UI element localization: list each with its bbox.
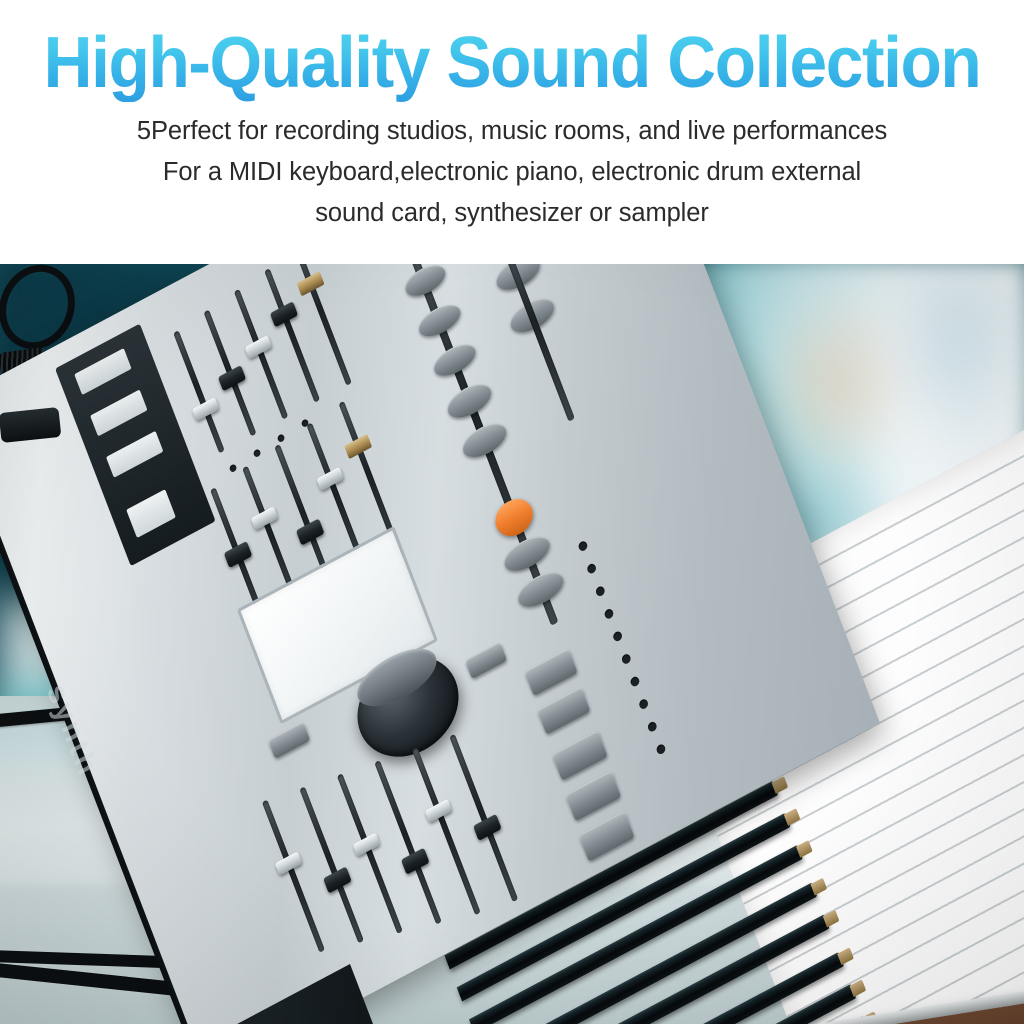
orange-fader-cap[interactable] (490, 492, 538, 543)
led-indicator (229, 463, 238, 473)
led-indicator (577, 540, 588, 553)
subtitle-line-3: sound card, synthesizer or sampler (0, 199, 1024, 228)
led-indicator (603, 607, 614, 620)
synthesizer: synth (140, 314, 1024, 1024)
led-indicator (277, 433, 286, 443)
grey-button[interactable] (579, 811, 635, 862)
fader-slot[interactable] (412, 747, 481, 915)
grey-button[interactable] (537, 687, 591, 735)
product-photo: synth (0, 264, 1024, 1024)
grey-button[interactable] (268, 721, 311, 759)
led-indicator (621, 653, 632, 666)
page-title: High-Quality Sound Collection (31, 24, 994, 102)
led-indicator (629, 675, 640, 688)
grey-knob[interactable] (514, 566, 568, 614)
led-indicator (612, 630, 623, 643)
led-indicator (647, 720, 658, 733)
grey-knob[interactable] (459, 417, 511, 464)
grey-knob[interactable] (443, 377, 495, 424)
grey-button[interactable] (565, 771, 621, 822)
subtitle-line-1: 5Perfect for recording studios, music ro… (0, 117, 1024, 146)
led-indicator (595, 585, 606, 598)
led-indicator (586, 562, 597, 575)
grey-knob[interactable] (500, 530, 554, 578)
led-indicator (253, 448, 262, 458)
product-banner: High-Quality Sound Collection 5Perfect f… (0, 0, 1024, 1024)
led-indicator (655, 743, 666, 756)
header-text-block: High-Quality Sound Collection 5Perfect f… (0, 0, 1024, 264)
grey-button[interactable] (524, 648, 578, 696)
fader-slot[interactable] (449, 734, 518, 902)
led-indicator (638, 698, 649, 711)
grey-button[interactable] (465, 642, 508, 680)
subtitle-line-2: For a MIDI keyboard,electronic piano, el… (0, 158, 1024, 187)
cable-front-connector (0, 407, 61, 443)
grey-button[interactable] (552, 730, 608, 781)
